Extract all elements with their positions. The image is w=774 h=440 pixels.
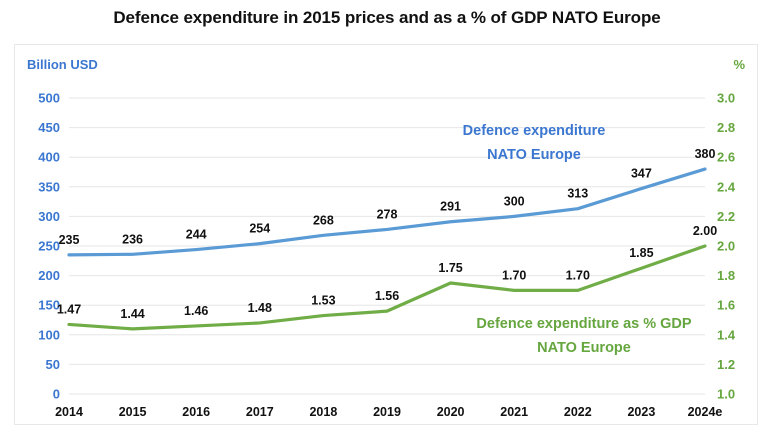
data-point-label: 1.70 <box>502 268 526 282</box>
right-axis-tick-label: 1.8 <box>717 268 735 283</box>
green-series-annotation: NATO Europe <box>537 340 631 356</box>
right-axis-tick-label: 1.2 <box>717 357 735 372</box>
series-annotations: Defence expenditureNATO EuropeDefence ex… <box>463 123 692 356</box>
data-point-label: 244 <box>186 228 207 242</box>
data-point-label: 2.00 <box>693 224 717 238</box>
category-label: 2023 <box>627 405 655 419</box>
category-label: 2020 <box>437 405 465 419</box>
left-axis-tick-label: 350 <box>38 179 60 194</box>
data-point-label: 1.44 <box>120 307 144 321</box>
data-point-label: 1.70 <box>566 268 590 282</box>
category-labels: 2014201520162017201820192020202120222023… <box>55 405 722 419</box>
left-axis-tick-label: 0 <box>53 387 60 402</box>
left-axis-tick-label: 500 <box>38 91 60 106</box>
data-labels: 2352362442542682782913003133473801.471.4… <box>57 147 717 321</box>
right-axis-ticks: 3.02.82.62.42.22.01.81.61.41.21.0 <box>717 91 736 402</box>
category-label: 2017 <box>246 405 274 419</box>
right-axis-tick-label: 1.6 <box>717 298 735 313</box>
right-axis-tick-label: 1.0 <box>717 387 735 402</box>
left-axis-tick-label: 200 <box>38 268 60 283</box>
data-point-label: 236 <box>122 232 143 246</box>
category-label: 2019 <box>373 405 401 419</box>
chart-page: Defence expenditure in 2015 prices and a… <box>0 0 774 440</box>
left-axis-tick-label: 400 <box>38 150 60 165</box>
category-label: 2015 <box>119 405 147 419</box>
right-axis-tick-label: 2.2 <box>717 209 735 224</box>
left-axis-tick-label: 250 <box>38 239 60 254</box>
right-axis-tick-label: 2.8 <box>717 120 735 135</box>
data-point-label: 268 <box>313 213 334 227</box>
category-label: 2016 <box>182 405 210 419</box>
left-axis-tick-label: 50 <box>46 357 60 372</box>
data-point-label: 1.53 <box>311 294 335 308</box>
data-point-label: 347 <box>631 167 652 181</box>
data-point-label: 313 <box>567 187 588 201</box>
left-axis-title: Billion USD <box>27 57 98 72</box>
category-label: 2021 <box>500 405 528 419</box>
category-label: 2018 <box>309 405 337 419</box>
data-point-label: 1.85 <box>629 246 653 260</box>
right-axis-tick-label: 1.4 <box>717 327 736 342</box>
category-label: 2024e <box>688 405 723 419</box>
left-axis-tick-label: 300 <box>38 209 60 224</box>
data-point-label: 1.47 <box>57 302 81 316</box>
data-point-label: 254 <box>249 222 270 236</box>
data-point-label: 235 <box>59 233 80 247</box>
right-axis-tick-label: 2.6 <box>717 150 735 165</box>
right-axis-title: % <box>733 57 745 72</box>
data-point-label: 1.48 <box>248 301 272 315</box>
blue-series-annotation: Defence expenditure <box>463 123 606 139</box>
left-axis-tick-label: 100 <box>38 327 60 342</box>
data-point-label: 1.75 <box>438 261 462 275</box>
data-point-label: 300 <box>504 194 525 208</box>
green-series-annotation: Defence expenditure as % GDP <box>476 316 691 332</box>
chart-canvas: 500450400350300250200150100500 3.02.82.6… <box>15 45 757 424</box>
data-point-label: 1.56 <box>375 289 399 303</box>
right-axis-tick-label: 3.0 <box>717 91 735 106</box>
chart-frame: 500450400350300250200150100500 3.02.82.6… <box>14 44 758 425</box>
data-point-label: 380 <box>695 147 716 161</box>
data-point-label: 278 <box>377 207 398 221</box>
page-title: Defence expenditure in 2015 prices and a… <box>0 8 774 28</box>
right-axis-tick-label: 2.4 <box>717 179 736 194</box>
data-point-label: 291 <box>440 200 461 214</box>
left-axis-ticks: 500450400350300250200150100500 <box>38 91 60 402</box>
data-point-label: 1.46 <box>184 304 208 318</box>
left-axis-tick-label: 450 <box>38 120 60 135</box>
blue-series-annotation: NATO Europe <box>487 147 581 163</box>
right-axis-tick-label: 2.0 <box>717 239 735 254</box>
category-label: 2014 <box>55 405 83 419</box>
category-label: 2022 <box>564 405 592 419</box>
